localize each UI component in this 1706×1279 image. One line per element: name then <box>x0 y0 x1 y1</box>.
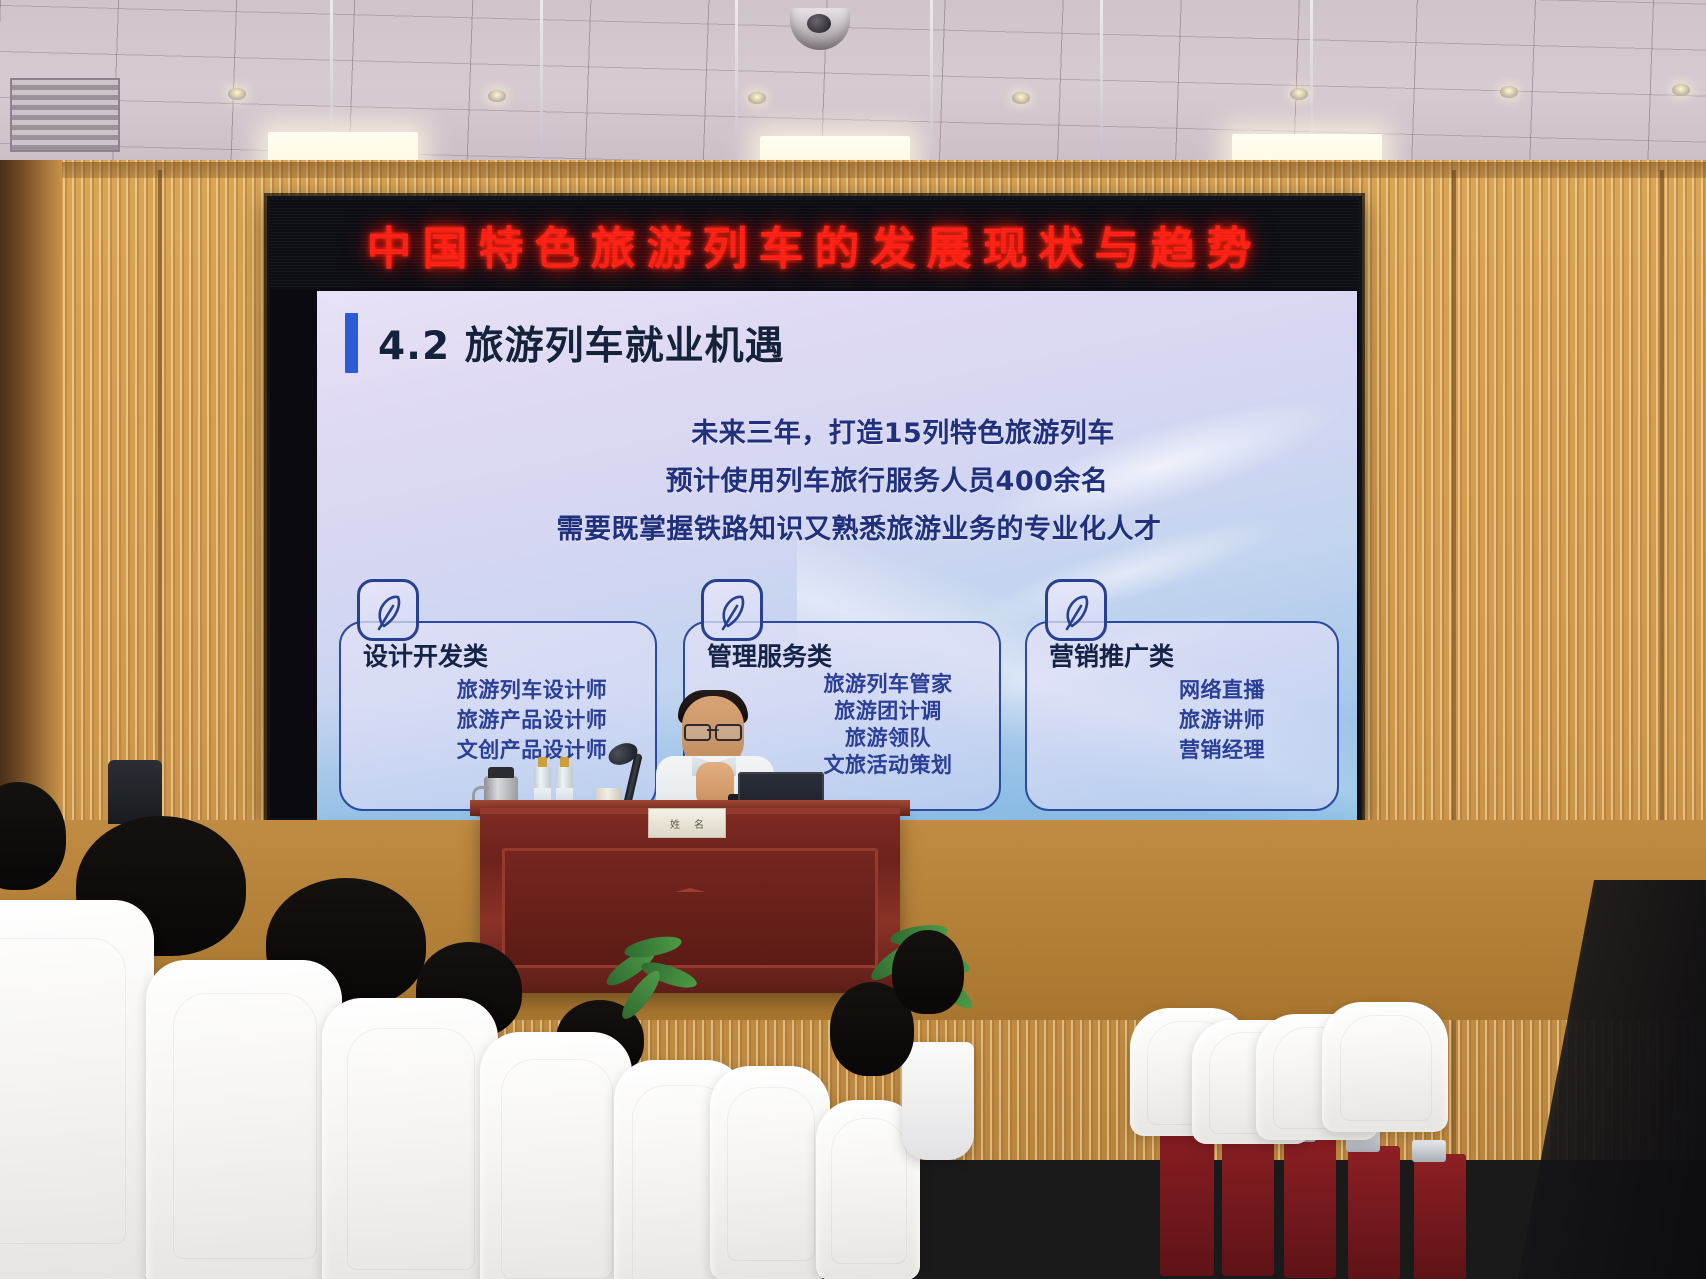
audience-chair <box>0 900 154 1279</box>
ceiling-spotlight <box>228 88 246 100</box>
lecture-hall-scene: 中国特色旅游列车的发展现状与趋势 4.2 旅游列车就业机遇 未来三年，打造15列… <box>0 0 1706 1279</box>
card-item: 旅游列车设计师 <box>457 677 608 705</box>
audience-head <box>0 782 66 890</box>
audience-chair <box>1322 1002 1448 1132</box>
category-card-marketing: 营销推广类 网络直播 旅游讲师 营销经理 <box>1025 621 1339 811</box>
wall-trim-top <box>0 162 1706 178</box>
lead-line: 需要既掌握铁路知识又熟悉旅游业务的专业化人才 <box>557 507 1162 546</box>
card-item: 营销经理 <box>1179 737 1265 765</box>
audience-left-section <box>0 760 700 1279</box>
card-item-list: 网络直播 旅游讲师 营销经理 <box>1067 677 1357 765</box>
seat-frame <box>1284 1136 1336 1278</box>
card-item-list: 旅游列车设计师 旅游产品设计师 文创产品设计师 <box>375 677 689 765</box>
card-title: 管理服务类 <box>707 637 832 673</box>
ceiling-spotlight <box>1012 92 1030 104</box>
ceiling-spotlight <box>1500 86 1518 98</box>
ceiling-spotlight <box>1672 84 1690 96</box>
audience-chair <box>480 1032 632 1279</box>
seat-frame <box>1348 1146 1400 1279</box>
slide: 4.2 旅游列车就业机遇 未来三年，打造15列特色旅游列车 预计使用列车旅行服务… <box>317 291 1357 821</box>
card-item: 网络直播 <box>1179 677 1265 705</box>
card-item: 旅游领队 <box>845 725 931 752</box>
audience-chair <box>146 960 342 1279</box>
air-vent <box>10 78 120 152</box>
card-item: 文旅活动策划 <box>824 752 953 779</box>
lead-line: 未来三年，打造15列特色旅游列车 <box>691 411 1115 450</box>
card-title: 营销推广类 <box>1049 637 1174 673</box>
slide-title-row: 4.2 旅游列车就业机遇 <box>345 313 785 373</box>
ceiling-spotlight <box>748 92 766 104</box>
card-item: 旅游列车管家 <box>824 671 953 698</box>
title-accent-bar <box>345 313 358 373</box>
presentation-screen: 中国特色旅游列车的发展现状与趋势 4.2 旅游列车就业机遇 未来三年，打造15列… <box>267 196 1362 821</box>
slide-lead-block: 未来三年，打造15列特色旅游列车 预计使用列车旅行服务人员400余名 需要既掌握… <box>317 411 1357 546</box>
ceiling-spotlight <box>488 90 506 102</box>
led-banner-text: 中国特色旅游列车的发展现状与趋势 <box>366 212 1262 277</box>
led-banner: 中国特色旅游列车的发展现状与趋势 <box>270 199 1359 289</box>
leaf-pen-icon <box>1045 579 1107 641</box>
lead-line: 预计使用列车旅行服务人员400余名 <box>666 459 1109 498</box>
ceiling-spotlight <box>1290 88 1308 100</box>
potted-plant-foliage <box>600 932 750 1042</box>
audience-head <box>892 930 964 1014</box>
card-item: 旅游讲师 <box>1179 707 1265 735</box>
audience-chair <box>322 998 498 1279</box>
audience-chair <box>710 1066 830 1279</box>
seat-frame <box>1222 1126 1274 1276</box>
glasses-icon <box>684 724 742 737</box>
seat-frame <box>1414 1154 1466 1279</box>
card-title: 设计开发类 <box>363 637 488 673</box>
seat-armrest <box>1412 1140 1446 1162</box>
card-item: 旅游团计调 <box>834 698 942 725</box>
planter-pot <box>902 1042 974 1160</box>
leaf-pen-icon <box>701 579 763 641</box>
page-title: 4.2 旅游列车就业机遇 <box>378 315 785 371</box>
card-item: 旅游产品设计师 <box>457 707 608 735</box>
leaf-pen-icon <box>357 579 419 641</box>
